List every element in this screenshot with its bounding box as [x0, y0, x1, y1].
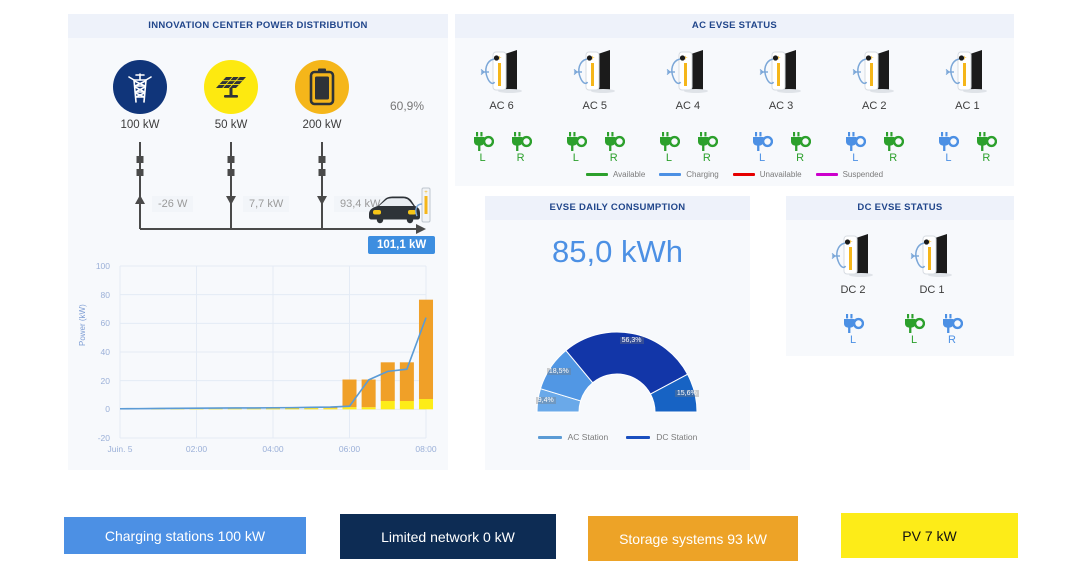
- connector-side-label: L: [894, 334, 934, 346]
- connector-ac-1-r[interactable]: R: [966, 132, 1006, 164]
- connector-side-label: R: [687, 152, 727, 164]
- plug-icon: [932, 314, 972, 334]
- power-source-grid: 100 kW: [100, 60, 180, 131]
- connector-side-label: L: [649, 152, 689, 164]
- ac-panel-title: AC EVSE STATUS: [455, 14, 1014, 38]
- charging-station-icon: +: [556, 46, 634, 98]
- daily-consumption-panel: EVSE DAILY CONSUMPTION 85,0 kWh 9,4%18,5…: [485, 196, 750, 470]
- chart-y-tick: 0: [84, 404, 110, 414]
- connector-ac-3-r[interactable]: R: [780, 132, 820, 164]
- chart-x-tick: Juin. 5: [107, 444, 132, 454]
- legend-label: Available: [613, 170, 645, 179]
- legend-swatch: [626, 436, 650, 439]
- legend-label: Suspended: [843, 170, 883, 179]
- connector-ac-2-l[interactable]: L: [835, 132, 875, 164]
- power-source-label: 100 kW: [100, 119, 180, 131]
- charging-station-icon: +: [893, 230, 971, 282]
- chart-x-tick: 02:00: [186, 444, 207, 454]
- evse-station-label: AC 3: [742, 100, 820, 112]
- evse-station-ac-2[interactable]: + AC 2: [835, 46, 913, 112]
- ac-evse-panel: AC EVSE STATUS + AC 6 L R + AC 5 L: [455, 14, 1014, 186]
- legend-label: Charging: [686, 170, 718, 179]
- summary-bar-label: Limited network 0 kW: [381, 529, 515, 545]
- power-panel-title: INNOVATION CENTER POWER DISTRIBUTION: [68, 14, 448, 38]
- connector-dc-1-r[interactable]: R: [932, 314, 972, 346]
- plug-icon: [594, 132, 634, 152]
- connector-side-label: R: [501, 152, 541, 164]
- summary-bar-label: Charging stations 100 kW: [105, 528, 265, 544]
- connector-side-label: R: [873, 152, 913, 164]
- plug-icon: [556, 132, 596, 152]
- plug-icon: [966, 132, 1006, 152]
- connector-side-label: R: [780, 152, 820, 164]
- connector-ac-4-l[interactable]: L: [649, 132, 689, 164]
- charging-station-icon: +: [928, 46, 1006, 98]
- connector-ac-1-l[interactable]: L: [928, 132, 968, 164]
- connector-ac-3-l[interactable]: L: [742, 132, 782, 164]
- plug-icon: [835, 132, 875, 152]
- summary-bar-pv: PV 7 kW: [841, 513, 1018, 558]
- connector-side-label: L: [928, 152, 968, 164]
- plug-icon: [780, 132, 820, 152]
- connector-ac-5-l[interactable]: L: [556, 132, 596, 164]
- plug-icon: [928, 132, 968, 152]
- connector-side-label: R: [594, 152, 634, 164]
- connector-side-label: R: [932, 334, 972, 346]
- connector-side-label: L: [742, 152, 782, 164]
- pylon-icon: [113, 60, 167, 114]
- connector-dc-1-l[interactable]: L: [894, 314, 934, 346]
- power-source-pv: 50 kW: [191, 60, 271, 131]
- chart-x-tick: 08:00: [415, 444, 436, 454]
- evse-station-label: AC 5: [556, 100, 634, 112]
- flow-value-pv-flow: 7,7 kW: [243, 196, 289, 212]
- connector-ac-5-r[interactable]: R: [594, 132, 634, 164]
- chart-x-tick: 06:00: [339, 444, 360, 454]
- plug-icon: [649, 132, 689, 152]
- charging-station-icon: +: [463, 46, 541, 98]
- dashboard: INNOVATION CENTER POWER DISTRIBUTION 100…: [0, 0, 1081, 480]
- evse-station-label: DC 2: [814, 284, 892, 296]
- power-source-label: 50 kW: [191, 119, 271, 131]
- legend-item-available: Available: [586, 170, 645, 179]
- station-split-donut: 9,4%18,5%56,3%15,6%: [485, 304, 750, 424]
- chart-y-tick: 20: [84, 376, 110, 386]
- chart-y-tick: -20: [84, 433, 110, 443]
- dc-evse-panel: DC EVSE STATUS + DC 2 L + DC 1 L R: [786, 196, 1014, 356]
- plug-icon: [833, 314, 873, 334]
- legend-swatch: [659, 173, 681, 176]
- connector-ac-4-r[interactable]: R: [687, 132, 727, 164]
- plug-icon: [873, 132, 913, 152]
- legend-item-suspended: Suspended: [816, 170, 883, 179]
- evse-station-label: DC 1: [893, 284, 971, 296]
- evse-station-label: AC 1: [928, 100, 1006, 112]
- ev-charging-icon: +: [365, 182, 431, 235]
- legend-swatch: [538, 436, 562, 439]
- donut-legend: AC StationDC Station: [485, 432, 750, 442]
- solar-panel-icon: [204, 60, 258, 114]
- evse-station-label: AC 2: [835, 100, 913, 112]
- legend-item-unavailable: Unavailable: [733, 170, 802, 179]
- plug-icon: [501, 132, 541, 152]
- evse-station-label: AC 6: [463, 100, 541, 112]
- evse-station-label: AC 4: [649, 100, 727, 112]
- flow-value-grid-flow: -26 W: [152, 196, 193, 212]
- power-source-battery: 200 kW: [282, 60, 362, 131]
- legend-label: Unavailable: [760, 170, 802, 179]
- charging-station-icon: +: [649, 46, 727, 98]
- power-source-label: 200 kW: [282, 119, 362, 131]
- plug-icon: [463, 132, 503, 152]
- chart-y-tick: 40: [84, 347, 110, 357]
- connector-side-label: L: [833, 334, 873, 346]
- evse-station-ac-4[interactable]: + AC 4: [649, 46, 727, 112]
- daily-panel-title: EVSE DAILY CONSUMPTION: [485, 196, 750, 220]
- legend-swatch: [816, 173, 838, 176]
- evse-station-ac-3[interactable]: + AC 3: [742, 46, 820, 112]
- evse-station-dc-2[interactable]: + DC 2: [814, 230, 892, 296]
- legend-swatch: [733, 173, 755, 176]
- legend-swatch: [586, 173, 608, 176]
- battery-percentage: 60,9%: [390, 99, 424, 113]
- battery-icon: [295, 60, 349, 114]
- chart-y-tick: 80: [84, 290, 110, 300]
- evse-station-ac-6[interactable]: + AC 6: [463, 46, 541, 112]
- power-distribution-panel: INNOVATION CENTER POWER DISTRIBUTION 100…: [68, 14, 448, 470]
- donut-legend-item: DC Station: [626, 432, 697, 442]
- donut-slice-label: 18,5%: [547, 368, 571, 375]
- ac-status-legend: AvailableChargingUnavailableSuspended: [455, 170, 1014, 179]
- connector-dc-2-l[interactable]: L: [833, 314, 873, 346]
- donut-slice-label: 56,3%: [620, 337, 644, 344]
- connector-ac-6-l[interactable]: L: [463, 132, 503, 164]
- svg-text:+: +: [424, 190, 428, 196]
- evse-station-ac-5[interactable]: + AC 5: [556, 46, 634, 112]
- donut-slice-label: 15,6%: [675, 390, 699, 397]
- donut-slice-label: 9,4%: [536, 397, 556, 404]
- plug-icon: [742, 132, 782, 152]
- connector-side-label: R: [966, 152, 1006, 164]
- connector-side-label: L: [463, 152, 503, 164]
- summary-bar-label: Storage systems 93 kW: [619, 531, 767, 547]
- legend-item-charging: Charging: [659, 170, 718, 179]
- connector-ac-2-r[interactable]: R: [873, 132, 913, 164]
- connector-side-label: L: [556, 152, 596, 164]
- evse-station-ac-1[interactable]: + AC 1: [928, 46, 1006, 112]
- charging-station-icon: +: [835, 46, 913, 98]
- charging-station-icon: +: [814, 230, 892, 282]
- summary-bar-label: PV 7 kW: [902, 528, 956, 544]
- evse-station-dc-1[interactable]: + DC 1: [893, 230, 971, 296]
- daily-consumption-value: 85,0 kWh: [485, 234, 750, 270]
- chart-y-tick: 100: [84, 261, 110, 271]
- legend-label: DC Station: [656, 432, 697, 442]
- donut-legend-item: AC Station: [538, 432, 609, 442]
- charging-station-icon: +: [742, 46, 820, 98]
- summary-bar-charging-stations: Charging stations 100 kW: [64, 517, 306, 554]
- power-chart: Power (kW)-20020406080100Juin. 502:0004:…: [82, 258, 434, 468]
- ev-load-badge: 101,1 kW: [368, 236, 435, 254]
- connector-ac-6-r[interactable]: R: [501, 132, 541, 164]
- chart-x-tick: 04:00: [262, 444, 283, 454]
- dc-panel-title: DC EVSE STATUS: [786, 196, 1014, 220]
- plug-icon: [894, 314, 934, 334]
- connector-side-label: L: [835, 152, 875, 164]
- summary-bar-limited-network: Limited network 0 kW: [340, 514, 556, 559]
- chart-y-tick: 60: [84, 318, 110, 328]
- summary-bar-storage-systems: Storage systems 93 kW: [588, 516, 798, 561]
- legend-label: AC Station: [568, 432, 609, 442]
- plug-icon: [687, 132, 727, 152]
